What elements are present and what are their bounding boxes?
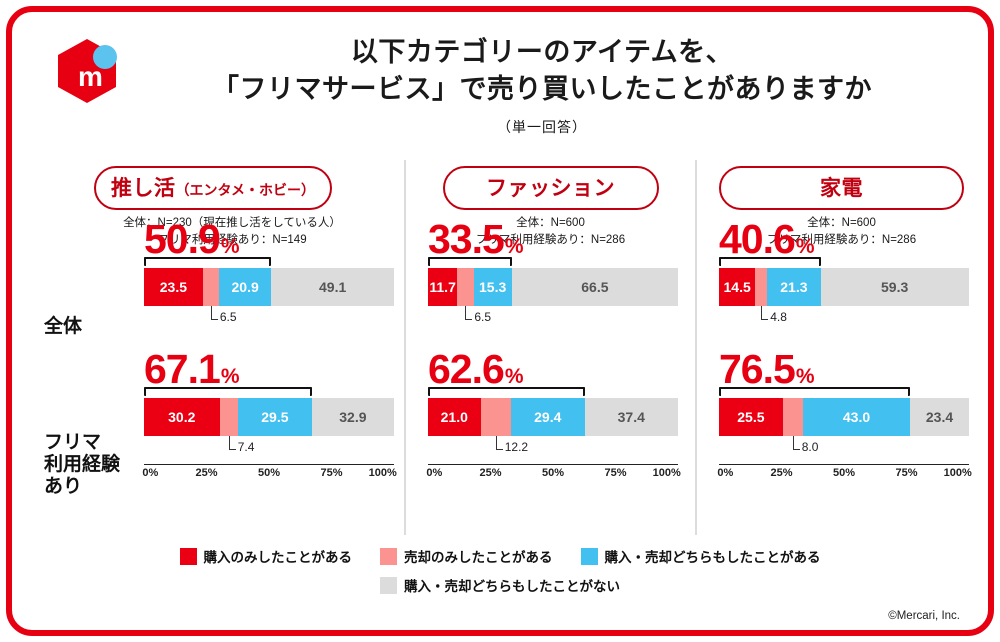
highlight-percentage-symbol: % bbox=[221, 235, 240, 259]
highlight-bracket bbox=[719, 387, 910, 396]
stacked-bar: 23.56.520.949.1 bbox=[144, 268, 394, 306]
x-axis-ticks: 0%25%50%75%100% bbox=[719, 465, 969, 481]
category-pill-sub: （エンタメ・ホビー） bbox=[175, 180, 315, 200]
highlight-percentage-symbol: % bbox=[505, 235, 524, 259]
x-axis-tick-label: 25% bbox=[479, 467, 501, 479]
x-axis-tick-label: 75% bbox=[604, 467, 626, 479]
highlight-percentage-symbol: % bbox=[796, 235, 815, 259]
bar-segment-neither[interactable]: 37.4 bbox=[585, 398, 679, 436]
bar-segment-sell-only[interactable]: 8.0 bbox=[783, 398, 803, 436]
stacked-bar-row-overall: 50.9%23.56.520.949.16.5 bbox=[144, 268, 394, 306]
bar-segment-sell-only-label: 6.5 bbox=[220, 310, 237, 324]
leader-line bbox=[465, 306, 466, 320]
title-line-2: 「フリマサービス」で売り買いしたことがありますか bbox=[142, 71, 942, 108]
bar-segment-buy-only[interactable]: 21.0 bbox=[428, 398, 481, 436]
bar-segment-both[interactable]: 21.3 bbox=[767, 268, 820, 306]
legend-swatch-both bbox=[581, 548, 598, 565]
bar-segment-buy-only[interactable]: 11.7 bbox=[428, 268, 457, 306]
x-axis-tick-label: 75% bbox=[320, 467, 342, 479]
x-axis-ticks: 0%25%50%75%100% bbox=[144, 465, 394, 481]
title-line-1: 以下カテゴリーのアイテムを、 bbox=[142, 34, 942, 71]
highlight-percentage-symbol: % bbox=[796, 365, 815, 389]
stacked-bar-row-overall: 33.5%11.76.515.366.56.5 bbox=[428, 268, 678, 306]
stacked-bar-row-experienced: 62.6%21.012.229.437.412.20%25%50%75%100% bbox=[428, 398, 678, 436]
category-pill-main: 推し活 bbox=[111, 172, 176, 202]
bar-segment-buy-only[interactable]: 30.2 bbox=[144, 398, 220, 436]
panels-container: 推し活（エンタメ・ホビー）全体：N=230（現在推し活をしている人）フリマ利用経… bbox=[22, 160, 986, 535]
leader-foot bbox=[793, 449, 800, 450]
x-axis-ticks: 0%25%50%75%100% bbox=[428, 465, 678, 481]
legend-label: 購入・売却どちらもしたことがない bbox=[404, 575, 620, 595]
leader-foot bbox=[211, 319, 218, 320]
x-axis-tick-label: 0% bbox=[717, 467, 733, 479]
leader-line bbox=[793, 436, 794, 450]
highlight-percentage: 62.6% bbox=[428, 346, 524, 393]
legend-label: 購入のみしたことがある bbox=[204, 546, 353, 566]
x-axis-tick-label: 0% bbox=[142, 467, 158, 479]
legend-item-buy[interactable]: 購入のみしたことがある bbox=[180, 546, 353, 566]
category-pill-wrap: ファッション bbox=[406, 166, 695, 210]
bar-segment-buy-only[interactable]: 23.5 bbox=[144, 268, 203, 306]
bar-segment-both[interactable]: 43.0 bbox=[803, 398, 911, 436]
highlight-bracket bbox=[719, 257, 821, 266]
legend-item-sell[interactable]: 売却のみしたことがある bbox=[380, 546, 553, 566]
legend-row: 購入のみしたことがある売却のみしたことがある購入・売却どちらもしたことがある bbox=[12, 546, 988, 566]
mercari-logo: m bbox=[50, 34, 124, 108]
bar-segment-sell-only-label: 8.0 bbox=[802, 440, 819, 454]
highlight-bracket bbox=[144, 257, 271, 266]
legend-row: 購入・売却どちらもしたことがない bbox=[12, 575, 988, 595]
stacked-bar-row-experienced: 67.1%30.27.429.532.97.40%25%50%75%100% bbox=[144, 398, 394, 436]
bar-segment-sell-only[interactable]: 6.5 bbox=[203, 268, 219, 306]
category-pill-kaden: 家電 bbox=[719, 166, 964, 210]
leader-line bbox=[229, 436, 230, 450]
stacked-bar-row-experienced: 76.5%25.58.043.023.48.00%25%50%75%100% bbox=[719, 398, 969, 436]
category-pill-wrap: 家電 bbox=[697, 166, 986, 210]
highlight-percentage-value: 67.1 bbox=[144, 346, 220, 393]
category-panel-kaden: 家電全体：N=600フリマ利用経験あり：N=28640.6%14.54.821.… bbox=[695, 160, 986, 535]
bar-segment-both[interactable]: 20.9 bbox=[219, 268, 271, 306]
legend-swatch-sell bbox=[380, 548, 397, 565]
x-axis-tick-label: 25% bbox=[195, 467, 217, 479]
legend-label: 購入・売却どちらもしたことがある bbox=[605, 546, 821, 566]
category-pill-wrap: 推し活（エンタメ・ホビー） bbox=[22, 166, 404, 210]
highlight-percentage: 67.1% bbox=[144, 346, 240, 393]
highlight-percentage-symbol: % bbox=[505, 365, 524, 389]
category-pill-oshikatsu: 推し活（エンタメ・ホビー） bbox=[94, 166, 332, 210]
legend-label: 売却のみしたことがある bbox=[404, 546, 553, 566]
subtitle: （単一回答） bbox=[142, 117, 942, 137]
highlight-bracket bbox=[428, 257, 512, 266]
highlight-percentage-symbol: % bbox=[221, 365, 240, 389]
stacked-bar: 21.012.229.437.4 bbox=[428, 398, 678, 436]
category-pill-fashion: ファッション bbox=[443, 166, 659, 210]
category-pill-main: ファッション bbox=[486, 172, 615, 202]
bar-segment-sell-only-label: 12.2 bbox=[505, 440, 528, 454]
stacked-bar-row-overall: 40.6%14.54.821.359.34.8 bbox=[719, 268, 969, 306]
leader-line bbox=[211, 306, 212, 320]
copyright-notice: ©Mercari, Inc. bbox=[888, 610, 960, 622]
highlight-percentage: 33.5% bbox=[428, 216, 524, 263]
legend: 購入のみしたことがある売却のみしたことがある購入・売却どちらもしたことがある購入… bbox=[12, 546, 988, 604]
x-axis-tick-label: 25% bbox=[770, 467, 792, 479]
bar-segment-both[interactable]: 29.4 bbox=[511, 398, 585, 436]
page-title: 以下カテゴリーのアイテムを、 「フリマサービス」で売り買いしたことがありますか … bbox=[142, 34, 942, 137]
highlight-percentage: 50.9% bbox=[144, 216, 240, 263]
bar-segment-both[interactable]: 15.3 bbox=[474, 268, 512, 306]
highlight-percentage-value: 33.5 bbox=[428, 216, 504, 263]
bar-segment-sell-only-label: 6.5 bbox=[474, 310, 491, 324]
bar-segment-sell-only-label: 4.8 bbox=[770, 310, 787, 324]
x-axis-tick-label: 50% bbox=[833, 467, 855, 479]
bar-segment-neither[interactable]: 49.1 bbox=[271, 268, 394, 306]
legend-swatch-none bbox=[380, 577, 397, 594]
bar-segment-sell-only-label: 7.4 bbox=[238, 440, 255, 454]
x-axis: 0%25%50%75%100% bbox=[428, 464, 678, 481]
leader-foot bbox=[465, 319, 472, 320]
category-panel-fashion: ファッション全体：N=600フリマ利用経験あり：N=28633.5%11.76.… bbox=[404, 160, 695, 535]
bar-segment-sell-only[interactable]: 4.8 bbox=[755, 268, 767, 306]
bar-segment-neither[interactable]: 32.9 bbox=[312, 398, 394, 436]
infographic-frame: m 以下カテゴリーのアイテムを、 「フリマサービス」で売り買いしたことがあります… bbox=[6, 6, 994, 636]
x-axis-tick-label: 50% bbox=[258, 467, 280, 479]
category-pill-main: 家電 bbox=[820, 172, 863, 202]
stacked-bar: 30.27.429.532.9 bbox=[144, 398, 394, 436]
highlight-percentage-value: 62.6 bbox=[428, 346, 504, 393]
category-panel-oshikatsu: 推し活（エンタメ・ホビー）全体：N=230（現在推し活をしている人）フリマ利用経… bbox=[22, 160, 404, 535]
leader-line bbox=[761, 306, 762, 320]
x-axis: 0%25%50%75%100% bbox=[144, 464, 394, 481]
legend-item-both[interactable]: 購入・売却どちらもしたことがある bbox=[581, 546, 821, 566]
bar-segment-neither[interactable]: 23.4 bbox=[910, 398, 969, 436]
bar-segment-buy-only[interactable]: 14.5 bbox=[719, 268, 755, 306]
bar-segment-neither[interactable]: 66.5 bbox=[512, 268, 678, 306]
x-axis-tick-label: 100% bbox=[944, 467, 972, 479]
highlight-percentage-value: 50.9 bbox=[144, 216, 220, 263]
bar-segment-sell-only[interactable]: 6.5 bbox=[457, 268, 473, 306]
highlight-percentage-value: 40.6 bbox=[719, 216, 795, 263]
highlight-percentage-value: 76.5 bbox=[719, 346, 795, 393]
bar-segment-neither[interactable]: 59.3 bbox=[821, 268, 969, 306]
legend-item-none[interactable]: 購入・売却どちらもしたことがない bbox=[380, 575, 620, 595]
stacked-bar: 11.76.515.366.5 bbox=[428, 268, 678, 306]
highlight-percentage: 40.6% bbox=[719, 216, 815, 263]
legend-swatch-buy bbox=[180, 548, 197, 565]
x-axis-tick-label: 100% bbox=[369, 467, 397, 479]
highlight-percentage: 76.5% bbox=[719, 346, 815, 393]
x-axis-tick-label: 50% bbox=[542, 467, 564, 479]
x-axis: 0%25%50%75%100% bbox=[719, 464, 969, 481]
stacked-bar: 14.54.821.359.3 bbox=[719, 268, 969, 306]
x-axis-tick-label: 0% bbox=[426, 467, 442, 479]
highlight-bracket bbox=[144, 387, 312, 396]
bar-segment-sell-only[interactable]: 12.2 bbox=[481, 398, 512, 436]
bar-segment-both[interactable]: 29.5 bbox=[238, 398, 312, 436]
x-axis-tick-label: 75% bbox=[895, 467, 917, 479]
leader-foot bbox=[496, 449, 503, 450]
leader-line bbox=[496, 436, 497, 450]
x-axis-tick-label: 100% bbox=[653, 467, 681, 479]
bar-segment-sell-only[interactable]: 7.4 bbox=[220, 398, 239, 436]
leader-foot bbox=[761, 319, 768, 320]
highlight-bracket bbox=[428, 387, 585, 396]
bar-segment-buy-only[interactable]: 25.5 bbox=[719, 398, 783, 436]
leader-foot bbox=[229, 449, 236, 450]
stacked-bar: 25.58.043.023.4 bbox=[719, 398, 969, 436]
